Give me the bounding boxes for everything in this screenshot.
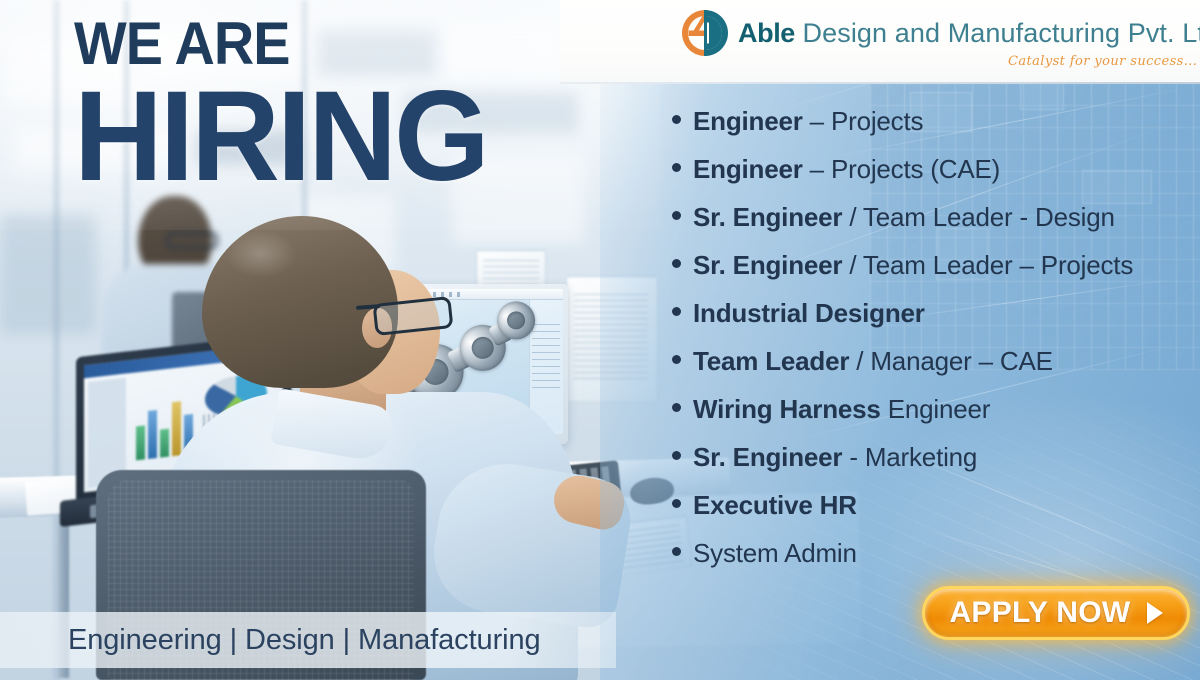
job-title-emphasis: Wiring Harness	[693, 394, 881, 424]
job-title-emphasis: Engineer	[693, 106, 803, 136]
company-tagline: Catalyst for your success...	[1008, 54, 1197, 69]
job-list-item[interactable]: System Admin	[672, 540, 1200, 588]
hiring-banner: Able Design and Manufacturing Pvt. Ltd. …	[0, 0, 1200, 680]
company-name: Able Design and Manufacturing Pvt. Ltd.	[738, 18, 1200, 49]
job-title-emphasis: Sr. Engineer	[693, 250, 842, 280]
job-title: Sr. Engineer - Marketing	[693, 444, 977, 470]
job-title-emphasis: Sr. Engineer	[693, 442, 842, 472]
bullet-icon	[672, 499, 681, 508]
brand-rest: Design and Manufacturing Pvt. Ltd.	[795, 18, 1200, 48]
bullet-icon	[672, 163, 681, 172]
job-list-item[interactable]: Industrial Designer	[672, 300, 1200, 348]
bullet-icon	[672, 547, 681, 556]
job-title-emphasis: Team Leader	[693, 346, 849, 376]
job-title: Engineer – Projects (CAE)	[693, 156, 1000, 182]
job-list-item[interactable]: Wiring Harness Engineer	[672, 396, 1200, 444]
job-list-item[interactable]: Sr. Engineer / Team Leader – Projects	[672, 252, 1200, 300]
eyeglasses	[374, 298, 466, 328]
job-title-emphasis: Sr. Engineer	[693, 202, 842, 232]
job-title: System Admin	[693, 540, 857, 566]
play-arrow-icon	[1147, 602, 1163, 624]
brand-able: Able	[738, 18, 795, 48]
job-list-item[interactable]: Sr. Engineer - Marketing	[672, 444, 1200, 492]
job-title: Wiring Harness Engineer	[693, 396, 990, 422]
job-title-detail: / Manager – CAE	[849, 346, 1052, 376]
job-title-emphasis: Executive HR	[693, 490, 857, 520]
bullet-icon	[672, 307, 681, 316]
company-logo[interactable]: Able Design and Manufacturing Pvt. Ltd.	[678, 6, 1200, 60]
bullet-icon	[672, 211, 681, 220]
job-title: Industrial Designer	[693, 300, 925, 326]
job-list-item[interactable]: Sr. Engineer / Team Leader - Design	[672, 204, 1200, 252]
ad-monogram-icon	[678, 6, 732, 60]
services-tagline-bar: Engineering | Design | Manafacturing	[0, 612, 616, 668]
job-openings-list: Engineer – ProjectsEngineer – Projects (…	[672, 108, 1200, 588]
job-title-detail: – Projects (CAE)	[803, 154, 1000, 184]
job-title-detail: / Team Leader – Projects	[842, 250, 1133, 280]
job-list-item[interactable]: Engineer – Projects (CAE)	[672, 156, 1200, 204]
job-title-detail: – Projects	[803, 106, 924, 136]
apply-now-button[interactable]: APPLY NOW	[922, 586, 1190, 640]
job-title: Executive HR	[693, 492, 857, 518]
job-list-item[interactable]: Team Leader / Manager – CAE	[672, 348, 1200, 396]
job-title-emphasis: Industrial Designer	[693, 298, 925, 328]
job-title: Team Leader / Manager – CAE	[693, 348, 1053, 374]
bullet-icon	[672, 403, 681, 412]
job-title-detail: - Marketing	[842, 442, 977, 472]
job-title: Sr. Engineer / Team Leader – Projects	[693, 252, 1133, 278]
job-title: Engineer – Projects	[693, 108, 923, 134]
job-title-detail: / Team Leader - Design	[842, 202, 1114, 232]
job-title-detail: System Admin	[693, 538, 857, 568]
headline-line-2: HIRING	[74, 78, 487, 196]
services-tagline: Engineering | Design | Manafacturing	[68, 624, 541, 657]
job-list-item[interactable]: Engineer – Projects	[672, 108, 1200, 156]
bullet-icon	[672, 115, 681, 124]
job-title-emphasis: Engineer	[693, 154, 803, 184]
job-list-item[interactable]: Executive HR	[672, 492, 1200, 540]
bullet-icon	[672, 259, 681, 268]
apply-now-label: APPLY NOW	[949, 596, 1130, 630]
job-title: Sr. Engineer / Team Leader - Design	[693, 204, 1115, 230]
bullet-icon	[672, 451, 681, 460]
headline: WE ARE HIRING	[74, 14, 504, 196]
job-title-detail: Engineer	[881, 394, 991, 424]
bullet-icon	[672, 355, 681, 364]
